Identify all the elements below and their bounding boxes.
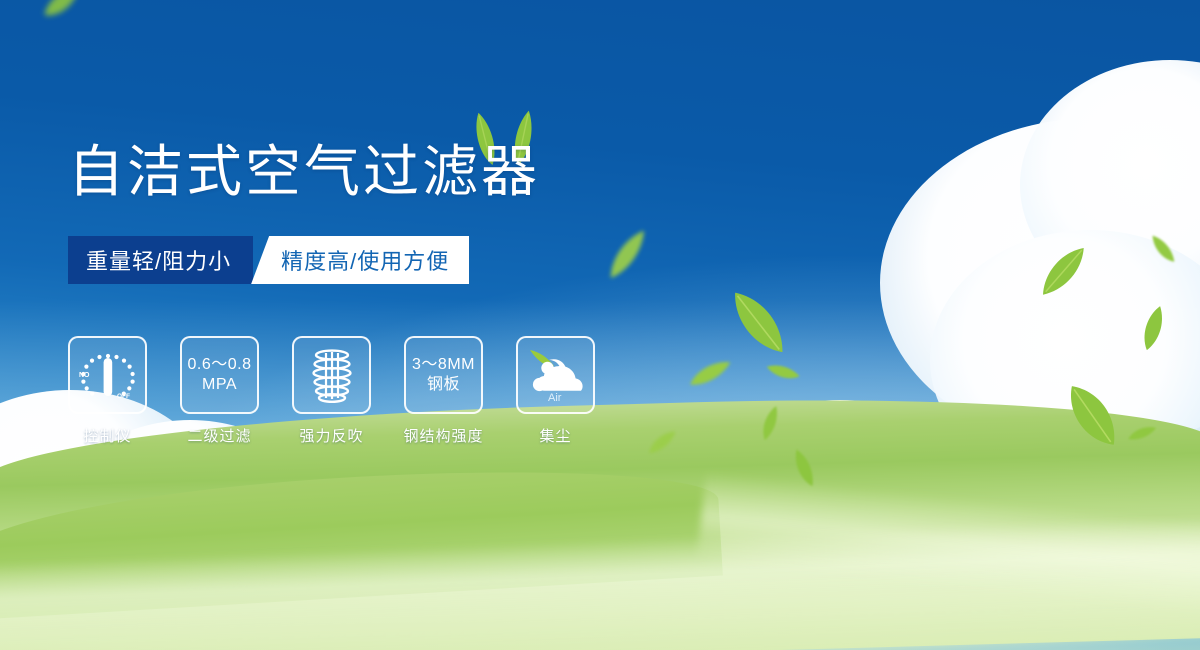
- feature-caption: 强力反吹: [299, 425, 363, 446]
- feature-caption: 二级过滤: [187, 425, 251, 446]
- feature-box-steel-strength: 3～8MM 钢板: [404, 336, 483, 414]
- feature-item-two-stage-filter[interactable]: 0.6～0.8 MPA 二级过滤: [180, 336, 259, 446]
- feature-item-dust-collection[interactable]: Air 集尘: [516, 336, 595, 446]
- feature-box-dust-collection: Air: [516, 336, 595, 414]
- feature-item-steel-strength[interactable]: 3～8MM 钢板 钢结构强度: [404, 336, 483, 446]
- subtitle-badge-left: 重量轻/阻力小: [68, 236, 253, 284]
- subtitle-badge-right: 精度高/使用方便: [251, 236, 469, 284]
- svg-text:NO: NO: [79, 372, 90, 379]
- filter-cartridge-icon: [304, 346, 360, 404]
- feature-text-line1: 0.6～0.8: [188, 355, 252, 375]
- feature-caption: 控制仪: [83, 425, 131, 446]
- svg-text:Air: Air: [548, 392, 562, 404]
- grass-foreground-shade: [0, 560, 1200, 650]
- page-title: 自洁式空气过滤器: [68, 140, 540, 204]
- feature-caption: 集尘: [539, 425, 571, 446]
- cloud-air-icon: Air: [524, 346, 588, 404]
- feature-list: NO OFF 控制仪 0.6～0.8 MPA 二级过滤: [68, 336, 595, 446]
- feature-box-controller: NO OFF: [68, 336, 147, 414]
- feature-box-two-stage-filter: 0.6～0.8 MPA: [180, 336, 259, 414]
- dial-gauge-icon: NO OFF: [77, 346, 139, 404]
- feature-item-controller[interactable]: NO OFF 控制仪: [68, 336, 147, 446]
- feature-item-strong-backblow[interactable]: 强力反吹: [292, 336, 371, 446]
- feature-text-line1: 3～8MM: [412, 355, 475, 375]
- feature-box-strong-backblow: [292, 336, 371, 414]
- svg-text:OFF: OFF: [117, 393, 130, 400]
- feature-text-line2: 钢板: [427, 375, 460, 395]
- product-banner: 自洁式空气过滤器 重量轻/阻力小 精度高/使用方便: [0, 0, 1200, 650]
- feature-caption: 钢结构强度: [404, 425, 484, 446]
- feature-text-line2: MPA: [202, 375, 237, 395]
- subtitle-badges: 重量轻/阻力小 精度高/使用方便: [68, 236, 469, 284]
